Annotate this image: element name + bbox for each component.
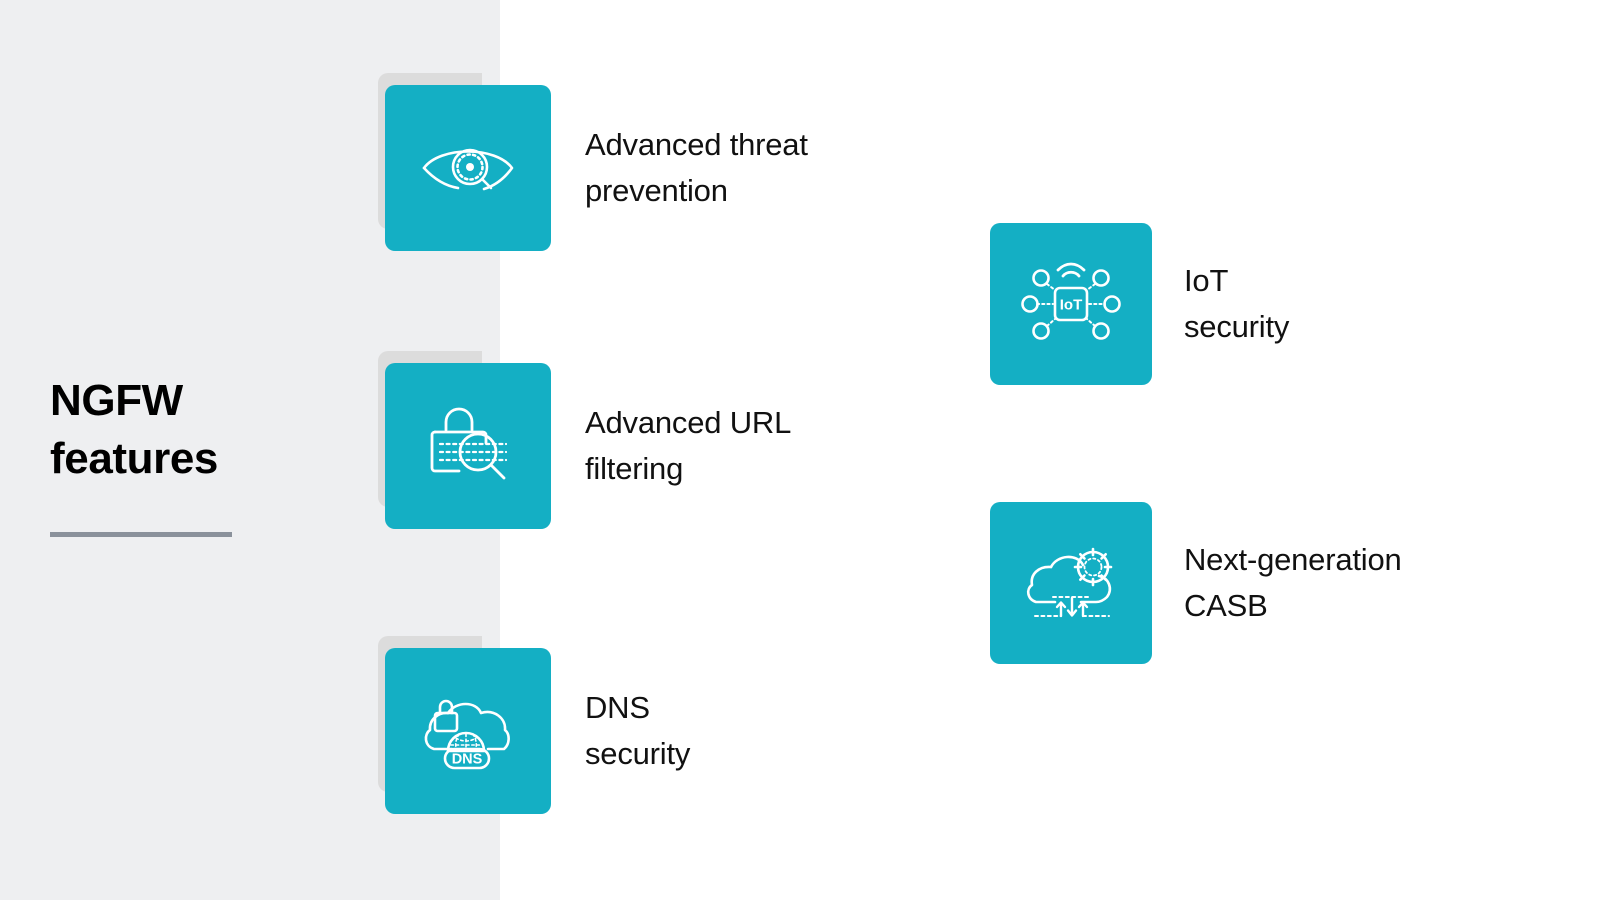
page-title: NGFW features <box>50 372 380 488</box>
iot-network-icon: IoT <box>1021 260 1121 348</box>
tile-wrap-iot-security: IoT <box>990 223 1152 385</box>
feature-advanced-threat-prevention[interactable]: Advanced threat prevention <box>385 85 808 251</box>
cloud-gear-transfer-icon <box>1021 541 1121 625</box>
tile-iot-security[interactable]: IoT <box>990 223 1152 385</box>
tile-advanced-url-filtering[interactable] <box>385 363 551 529</box>
dns-cloud-lock-icon: DNS <box>418 689 518 773</box>
tile-wrap-dns-security: DNS <box>385 648 551 814</box>
feature-label-advanced-url-filtering: Advanced URL filtering <box>585 400 791 492</box>
feature-label-dns-security: DNS security <box>585 685 690 777</box>
feature-label-advanced-threat-prevention: Advanced threat prevention <box>585 122 808 214</box>
heading-block: NGFW features <box>50 372 380 537</box>
tile-wrap-next-generation-casb <box>990 502 1152 664</box>
tile-dns-security[interactable]: DNS <box>385 648 551 814</box>
tile-wrap-advanced-url-filtering <box>385 363 551 529</box>
feature-next-generation-casb[interactable]: Next-generation CASB <box>990 502 1402 664</box>
tile-wrap-advanced-threat-prevention <box>385 85 551 251</box>
feature-iot-security[interactable]: IoT <box>990 223 1289 385</box>
padlock-magnifier-icon <box>422 400 514 492</box>
tile-advanced-threat-prevention[interactable] <box>385 85 551 251</box>
dns-icon-text: DNS <box>452 751 483 767</box>
eye-magnifier-icon <box>420 133 516 203</box>
feature-advanced-url-filtering[interactable]: Advanced URL filtering <box>385 363 791 529</box>
iot-icon-text: IoT <box>1060 297 1083 314</box>
feature-dns-security[interactable]: DNS DNS security <box>385 648 690 814</box>
title-divider <box>50 532 232 537</box>
feature-label-next-generation-casb: Next-generation CASB <box>1184 537 1402 629</box>
feature-label-iot-security: IoT security <box>1184 258 1289 350</box>
tile-next-generation-casb[interactable] <box>990 502 1152 664</box>
